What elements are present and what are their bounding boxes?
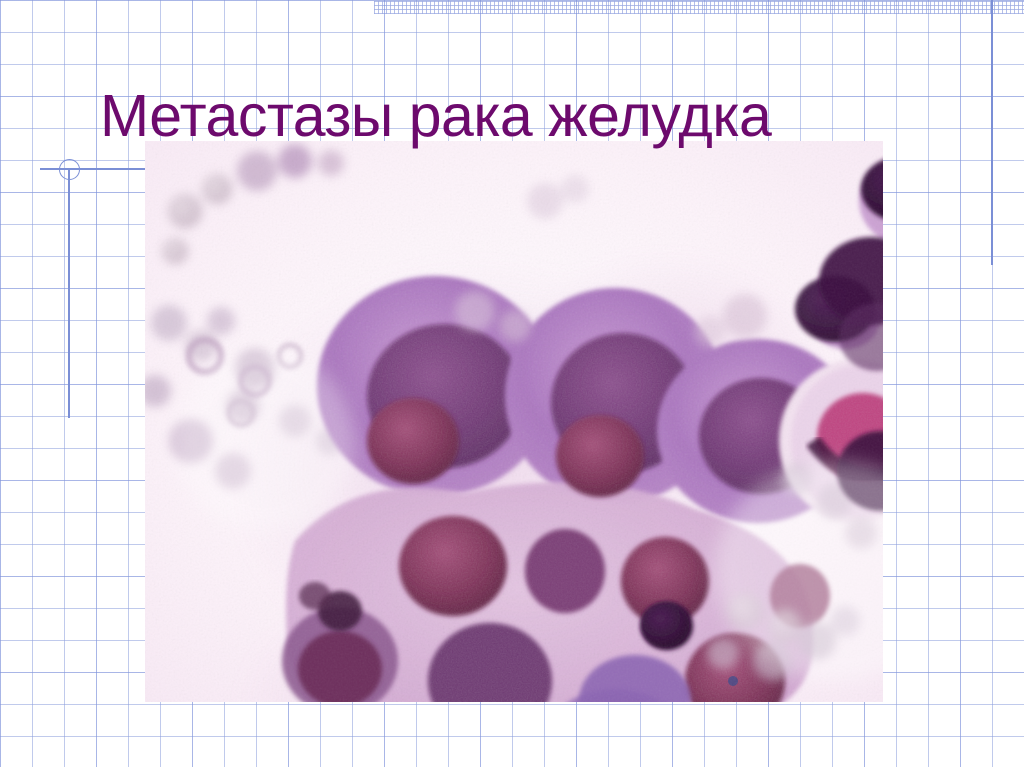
dense-grid-band: [374, 1, 1024, 14]
decor-vertical-rule-right: [991, 0, 993, 265]
decor-vertical-rule-left: [68, 168, 70, 418]
slide-canvas: Микрофотография: метастазы рака желудка,…: [0, 0, 1024, 767]
decor-horizontal-rule-left: [40, 168, 145, 170]
slide-title: Метастазы рака желудка: [100, 84, 860, 148]
circle-crosshair-marker-icon: [59, 159, 80, 180]
cytology-micrograph: Микрофотография: метастазы рака желудка,…: [145, 141, 883, 702]
